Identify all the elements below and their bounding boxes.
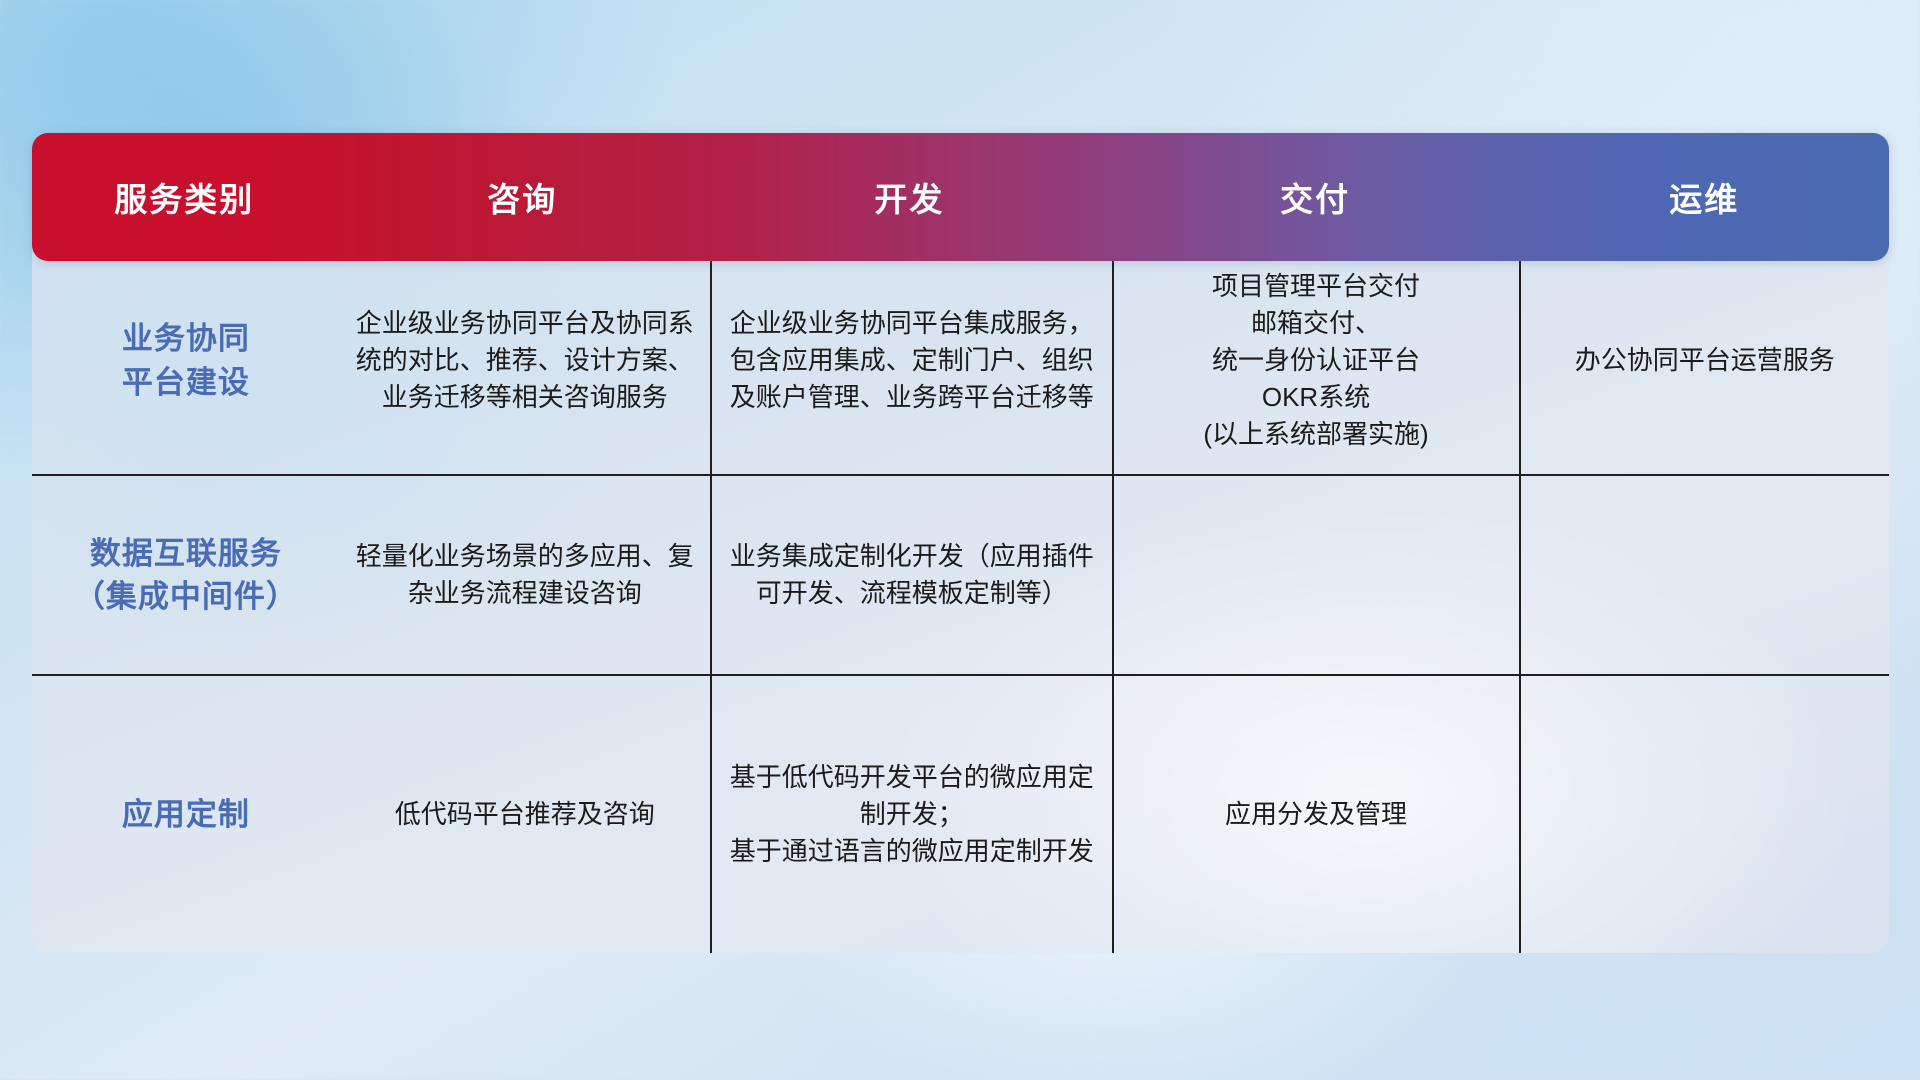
row-category-label: 应用定制: [32, 675, 340, 953]
cell-operations: [1520, 675, 1890, 953]
cell-delivery: [1113, 475, 1520, 675]
column-header-consulting: 咨询: [337, 173, 708, 221]
column-header-delivery: 交付: [1111, 173, 1520, 221]
service-matrix-table: 业务协同 平台建设 企业级业务协同平台及协同系 统的对比、推荐、设计方案、 业务…: [32, 133, 1889, 953]
column-header-category: 服务类别: [32, 173, 337, 221]
cell-development: 业务集成定制化开发（应用插件 可开发、流程模板定制等）: [711, 475, 1113, 675]
table-row: 业务协同 平台建设 企业级业务协同平台及协同系 统的对比、推荐、设计方案、 业务…: [32, 247, 1889, 475]
column-header-development: 开发: [708, 173, 1111, 221]
cell-development: 企业级业务协同平台集成服务， 包含应用集成、定制门户、组织 及账户管理、业务跨平…: [711, 247, 1113, 475]
cell-operations: 办公协同平台运营服务: [1520, 247, 1890, 475]
cell-development: 基于低代码开发平台的微应用定 制开发； 基于通过语言的微应用定制开发: [711, 675, 1113, 953]
cell-consulting: 轻量化业务场景的多应用、复 杂业务流程建设咨询: [340, 475, 711, 675]
cell-consulting: 低代码平台推荐及咨询: [340, 675, 711, 953]
table-row: 数据互联服务 （集成中间件） 轻量化业务场景的多应用、复 杂业务流程建设咨询 业…: [32, 475, 1889, 675]
cell-delivery: 应用分发及管理: [1113, 675, 1520, 953]
table-grid: 业务协同 平台建设 企业级业务协同平台及协同系 统的对比、推荐、设计方案、 业务…: [32, 247, 1889, 953]
cell-consulting: 企业级业务协同平台及协同系 统的对比、推荐、设计方案、 业务迁移等相关咨询服务: [340, 247, 711, 475]
table-header-bar: 服务类别 咨询 开发 交付 运维: [32, 133, 1889, 261]
column-header-operations: 运维: [1519, 173, 1889, 221]
table-body-panel: 业务协同 平台建设 企业级业务协同平台及协同系 统的对比、推荐、设计方案、 业务…: [32, 247, 1889, 953]
row-category-label: 数据互联服务 （集成中间件）: [32, 475, 340, 675]
cell-operations: [1520, 475, 1890, 675]
table-row: 应用定制 低代码平台推荐及咨询 基于低代码开发平台的微应用定 制开发； 基于通过…: [32, 675, 1889, 953]
cell-delivery: 项目管理平台交付 邮箱交付、 统一身份认证平台 OKR系统 (以上系统部署实施): [1113, 247, 1520, 475]
slide-canvas: 业务协同 平台建设 企业级业务协同平台及协同系 统的对比、推荐、设计方案、 业务…: [0, 0, 1920, 1080]
row-category-label: 业务协同 平台建设: [32, 247, 340, 475]
